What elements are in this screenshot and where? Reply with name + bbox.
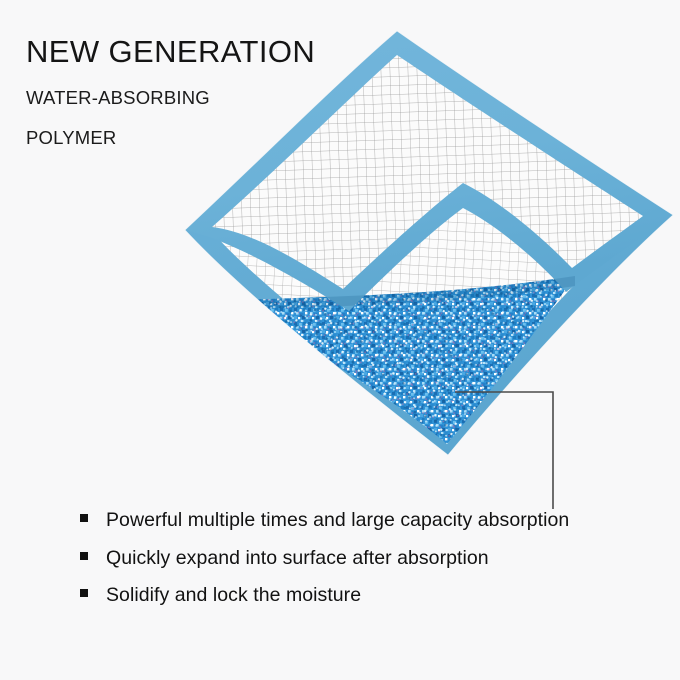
bullet-square-icon [80, 589, 88, 597]
feature-text: Quickly expand into surface after absorp… [106, 549, 489, 569]
list-item: Quickly expand into surface after absorp… [80, 549, 569, 569]
page-title: NEW GENERATION [26, 36, 315, 67]
list-item: Powerful multiple times and large capaci… [80, 511, 569, 531]
subtitle-line-1: WATER-ABSORBING [26, 89, 315, 108]
list-item: Solidify and lock the moisture [80, 586, 569, 606]
bullet-square-icon [80, 552, 88, 560]
bullet-square-icon [80, 514, 88, 522]
subtitle-line-2: POLYMER [26, 129, 315, 148]
feature-text: Powerful multiple times and large capaci… [106, 511, 569, 531]
heading-block: NEW GENERATION WATER-ABSORBING POLYMER [26, 36, 315, 168]
feature-list: Powerful multiple times and large capaci… [80, 511, 569, 624]
feature-text: Solidify and lock the moisture [106, 586, 361, 606]
infographic-poster: NEW GENERATION WATER-ABSORBING POLYMER [0, 0, 680, 680]
